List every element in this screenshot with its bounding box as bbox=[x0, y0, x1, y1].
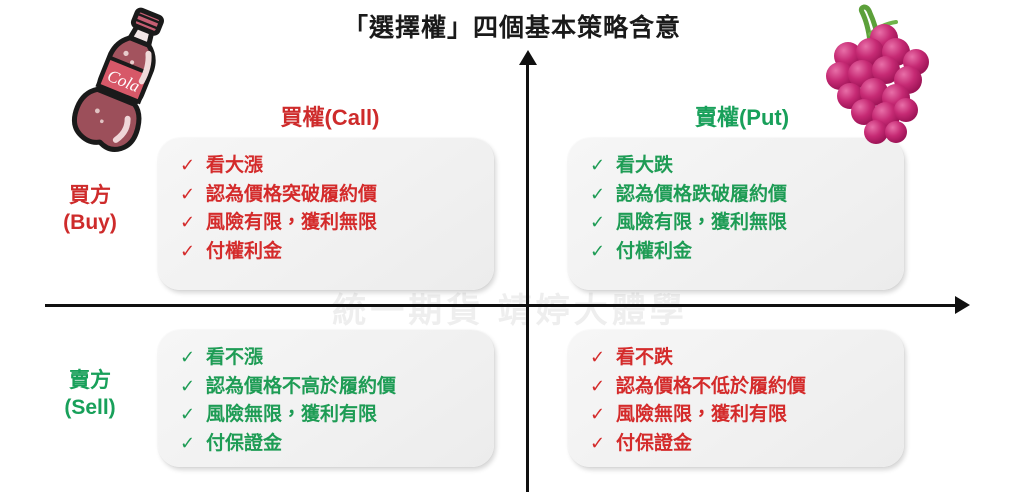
check-icon: ✓ bbox=[590, 152, 616, 179]
watermark: 統一期貨 靖婷大體學 bbox=[300, 283, 720, 332]
list-item-label: 看不漲 bbox=[206, 344, 263, 373]
list-item-label: 風險無限，獲利有限 bbox=[206, 401, 377, 430]
list-item-label: 風險有限，獲利無限 bbox=[206, 209, 377, 238]
list-item: ✓ 看不漲 bbox=[180, 344, 484, 373]
check-icon: ✓ bbox=[590, 430, 616, 457]
check-icon: ✓ bbox=[180, 238, 206, 265]
check-icon: ✓ bbox=[590, 209, 616, 236]
bullet-list-buy-call: ✓ 看大漲 ✓ 認為價格突破履約價 ✓ 風險有限，獲利無限 ✓ 付權利金 bbox=[180, 152, 484, 266]
list-item: ✓ 看不跌 bbox=[590, 344, 894, 373]
list-item: ✓ 付保證金 bbox=[180, 430, 484, 459]
check-icon: ✓ bbox=[180, 181, 206, 208]
check-icon: ✓ bbox=[590, 344, 616, 371]
row-label-sell-cn: 賣方 bbox=[30, 368, 150, 395]
list-item-label: 付權利金 bbox=[616, 238, 692, 267]
list-item: ✓ 付保證金 bbox=[590, 430, 894, 459]
arrow-right-icon bbox=[955, 296, 970, 314]
list-item: ✓ 風險無限，獲利有限 bbox=[590, 401, 894, 430]
column-header-call: 買權(Call) bbox=[180, 100, 480, 132]
list-item-label: 認為價格跌破履約價 bbox=[616, 181, 787, 210]
list-item: ✓ 付權利金 bbox=[180, 238, 484, 267]
list-item-label: 風險有限，獲利無限 bbox=[616, 209, 787, 238]
arrow-up-icon bbox=[519, 50, 537, 65]
list-item-label: 付保證金 bbox=[206, 430, 282, 459]
check-icon: ✓ bbox=[590, 373, 616, 400]
list-item: ✓ 付權利金 bbox=[590, 238, 894, 267]
slide-canvas: 「選擇權」四個基本策略含意 統一期貨 靖婷大體學 買權(Call) 賣權(Put… bbox=[0, 0, 1024, 496]
list-item-label: 付權利金 bbox=[206, 238, 282, 267]
row-label-sell: 賣方 (Sell) bbox=[30, 368, 150, 422]
list-item-label: 看大跌 bbox=[616, 152, 673, 181]
quadrant-card-sell-call: ✓ 看不漲 ✓ 認為價格不高於履約價 ✓ 風險無限，獲利有限 ✓ 付保證金 bbox=[158, 330, 494, 467]
check-icon: ✓ bbox=[590, 181, 616, 208]
list-item-label: 付保證金 bbox=[616, 430, 692, 459]
bullet-list-buy-put: ✓ 看大跌 ✓ 認為價格跌破履約價 ✓ 風險有限，獲利無限 ✓ 付權利金 bbox=[590, 152, 894, 266]
grapes-icon bbox=[818, 0, 950, 150]
check-icon: ✓ bbox=[180, 401, 206, 428]
list-item-label: 認為價格不高於履約價 bbox=[206, 373, 396, 402]
list-item: ✓ 看大跌 bbox=[590, 152, 894, 181]
cola-bottle-icon: Cola bbox=[58, 2, 186, 162]
row-label-buy: 買方 (Buy) bbox=[30, 183, 150, 237]
list-item: ✓ 風險有限，獲利無限 bbox=[180, 209, 484, 238]
horizontal-axis-line bbox=[45, 304, 960, 307]
check-icon: ✓ bbox=[180, 209, 206, 236]
list-item: ✓ 認為價格跌破履約價 bbox=[590, 181, 894, 210]
list-item: ✓ 看大漲 bbox=[180, 152, 484, 181]
quadrant-card-sell-put: ✓ 看不跌 ✓ 認為價格不低於履約價 ✓ 風險無限，獲利有限 ✓ 付保證金 bbox=[568, 330, 904, 467]
row-label-buy-cn: 買方 bbox=[30, 183, 150, 210]
check-icon: ✓ bbox=[180, 430, 206, 457]
list-item: ✓ 風險有限，獲利無限 bbox=[590, 209, 894, 238]
bullet-list-sell-call: ✓ 看不漲 ✓ 認為價格不高於履約價 ✓ 風險無限，獲利有限 ✓ 付保證金 bbox=[180, 344, 484, 458]
list-item-label: 看不跌 bbox=[616, 344, 673, 373]
check-icon: ✓ bbox=[590, 238, 616, 265]
list-item-label: 看大漲 bbox=[206, 152, 263, 181]
quadrant-card-buy-call: ✓ 看大漲 ✓ 認為價格突破履約價 ✓ 風險有限，獲利無限 ✓ 付權利金 bbox=[158, 138, 494, 290]
vertical-axis-line bbox=[526, 62, 529, 492]
check-icon: ✓ bbox=[590, 401, 616, 428]
list-item: ✓ 認為價格突破履約價 bbox=[180, 181, 484, 210]
list-item: ✓ 風險無限，獲利有限 bbox=[180, 401, 484, 430]
list-item: ✓ 認為價格不高於履約價 bbox=[180, 373, 484, 402]
row-label-sell-en: (Sell) bbox=[30, 395, 150, 422]
check-icon: ✓ bbox=[180, 344, 206, 371]
list-item: ✓ 認為價格不低於履約價 bbox=[590, 373, 894, 402]
list-item-label: 認為價格不低於履約價 bbox=[616, 373, 806, 402]
check-icon: ✓ bbox=[180, 373, 206, 400]
bullet-list-sell-put: ✓ 看不跌 ✓ 認為價格不低於履約價 ✓ 風險無限，獲利有限 ✓ 付保證金 bbox=[590, 344, 894, 458]
list-item-label: 認為價格突破履約價 bbox=[206, 181, 377, 210]
quadrant-card-buy-put: ✓ 看大跌 ✓ 認為價格跌破履約價 ✓ 風險有限，獲利無限 ✓ 付權利金 bbox=[568, 138, 904, 290]
list-item-label: 風險無限，獲利有限 bbox=[616, 401, 787, 430]
row-label-buy-en: (Buy) bbox=[30, 210, 150, 237]
